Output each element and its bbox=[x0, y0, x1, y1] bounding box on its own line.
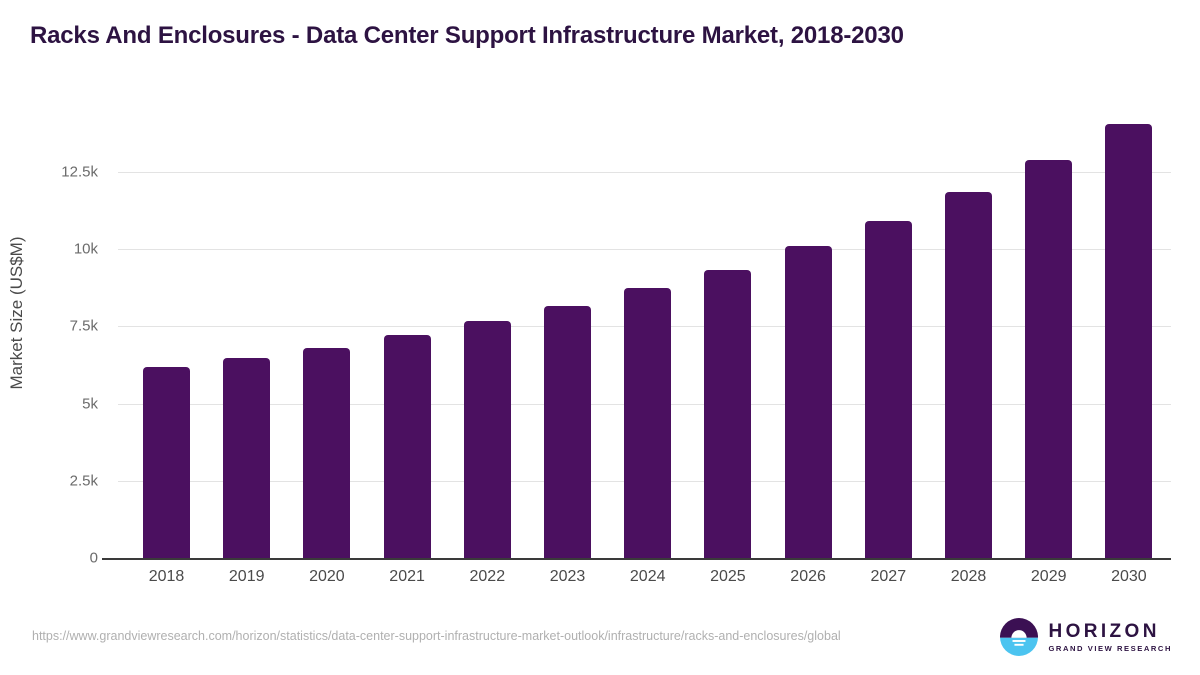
bar[interactable] bbox=[223, 358, 270, 558]
plot-area bbox=[118, 110, 1171, 558]
y-tick-label: 5k bbox=[82, 395, 98, 412]
bar[interactable] bbox=[1105, 124, 1152, 558]
x-axis-ticks: 2018201920202021202220232024202520262027… bbox=[118, 568, 1171, 596]
bar[interactable] bbox=[303, 348, 350, 558]
source-url[interactable]: https://www.grandviewresearch.com/horizo… bbox=[32, 628, 922, 645]
logo-text: HORIZON GRAND VIEW RESEARCH bbox=[1048, 622, 1172, 653]
bar[interactable] bbox=[945, 192, 992, 558]
x-tick-label: 2028 bbox=[929, 568, 1009, 586]
bar[interactable] bbox=[143, 367, 190, 558]
x-tick-label: 2027 bbox=[848, 568, 928, 586]
x-tick-label: 2024 bbox=[608, 568, 688, 586]
x-tick-label: 2026 bbox=[768, 568, 848, 586]
bar[interactable] bbox=[785, 246, 832, 558]
x-axis-line bbox=[118, 558, 1171, 560]
x-tick-label: 2018 bbox=[127, 568, 207, 586]
gridline bbox=[118, 249, 1171, 250]
y-tick-label: 12.5k bbox=[61, 163, 98, 180]
bar[interactable] bbox=[624, 288, 671, 558]
x-tick-label: 2023 bbox=[528, 568, 608, 586]
y-axis-tick-mark-zero bbox=[102, 558, 118, 560]
gridline bbox=[118, 172, 1171, 173]
x-tick-label: 2022 bbox=[447, 568, 527, 586]
bar[interactable] bbox=[865, 221, 912, 558]
x-tick-label: 2029 bbox=[1009, 568, 1089, 586]
y-axis-label: Market Size (US$M) bbox=[7, 133, 27, 493]
x-tick-label: 2019 bbox=[207, 568, 287, 586]
horizon-logo-icon bbox=[1000, 618, 1038, 656]
page-title: Racks And Enclosures - Data Center Suppo… bbox=[30, 22, 904, 50]
bar[interactable] bbox=[384, 335, 431, 558]
logo-tagline: GRAND VIEW RESEARCH bbox=[1048, 645, 1172, 653]
bar[interactable] bbox=[464, 321, 511, 558]
bar[interactable] bbox=[544, 306, 591, 558]
chart-page: Racks And Enclosures - Data Center Suppo… bbox=[0, 0, 1200, 675]
bar[interactable] bbox=[704, 270, 751, 558]
logo-wordmark: HORIZON bbox=[1048, 622, 1172, 641]
x-tick-label: 2020 bbox=[287, 568, 367, 586]
bar[interactable] bbox=[1025, 160, 1072, 558]
y-tick-label: 0 bbox=[90, 550, 98, 567]
y-tick-label: 2.5k bbox=[70, 472, 98, 489]
x-tick-label: 2021 bbox=[367, 568, 447, 586]
x-tick-label: 2025 bbox=[688, 568, 768, 586]
horizon-logo[interactable]: HORIZON GRAND VIEW RESEARCH bbox=[1000, 618, 1172, 656]
y-tick-label: 7.5k bbox=[70, 318, 98, 335]
y-tick-label: 10k bbox=[74, 241, 98, 258]
x-tick-label: 2030 bbox=[1089, 568, 1169, 586]
